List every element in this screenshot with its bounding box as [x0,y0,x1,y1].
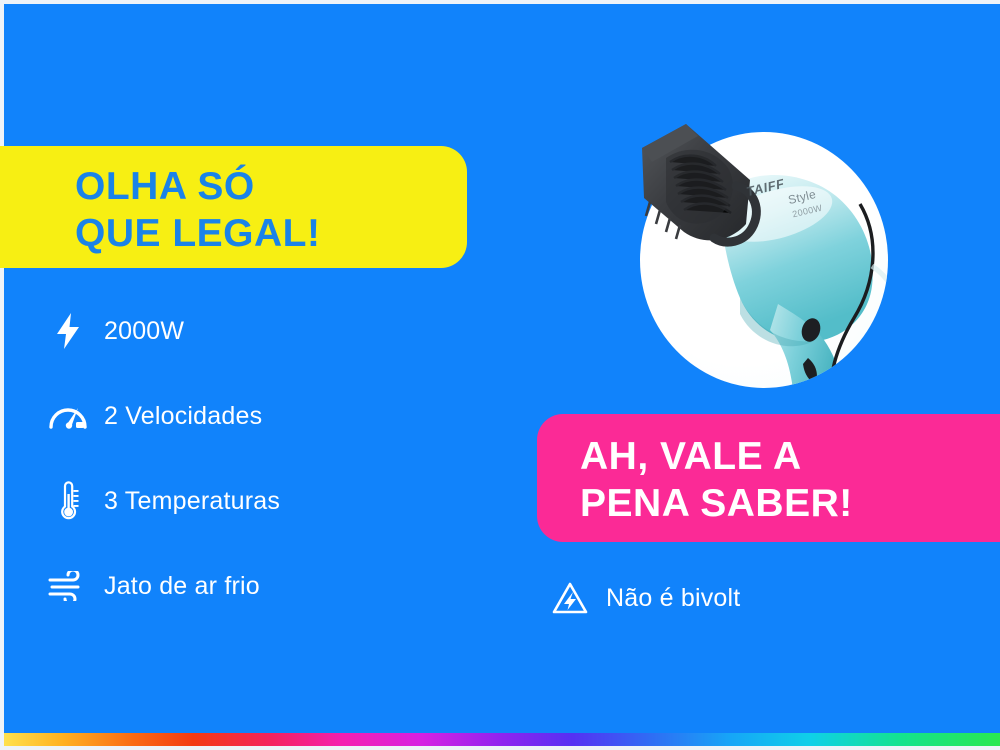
feature-list-secondary: Não é bivolt [548,570,948,626]
feature-item-power: 2000W [46,303,476,359]
hair-dryer-illustration [628,118,898,400]
lightning-bolt-icon [46,309,90,353]
feature-label-speeds: 2 Velocidades [104,402,262,431]
feature-label-voltage: Não é bivolt [606,584,740,613]
feature-item-cold-air: Jato de ar frio [46,558,476,614]
pink-banner-headline: AH, VALE A PENA SABER! [580,433,853,527]
feature-label-power: 2000W [104,317,184,346]
promo-banner: OLHA SÓ QUE LEGAL! 2000W 2 Velocidades [0,0,1000,750]
wind-icon [46,564,90,608]
thermometer-icon [46,479,90,523]
feature-label-temperatures: 3 Temperaturas [104,487,280,516]
feature-item-voltage: Não é bivolt [548,570,948,626]
yellow-headline-banner: OLHA SÓ QUE LEGAL! [0,146,467,268]
feature-label-cold-air: Jato de ar frio [104,572,260,601]
feature-item-temperatures: 3 Temperaturas [46,473,476,529]
yellow-banner-headline: OLHA SÓ QUE LEGAL! [75,163,321,257]
product-hair-dryer-image: TAIFF Style 2000W [628,118,898,400]
feature-item-speeds: 2 Velocidades [46,388,476,444]
rainbow-gradient-strip [4,733,1000,746]
speedometer-icon [46,394,90,438]
pink-headline-banner: AH, VALE A PENA SABER! [537,414,1000,542]
feature-list-primary: 2000W 2 Velocidades [46,303,476,643]
warning-voltage-icon [548,576,592,620]
dryer-nozzle [642,124,756,242]
